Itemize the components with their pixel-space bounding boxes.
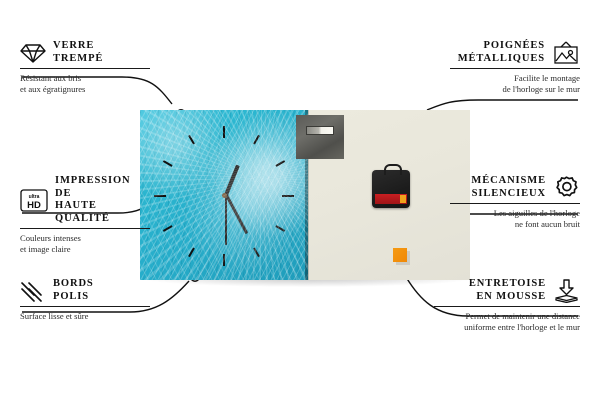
feature-title-line1: MÉCANISME — [471, 175, 546, 188]
feature-title-line1: BORDS — [53, 278, 94, 291]
feature-mecanisme-silencieux: MÉCANISME SILENCIEUX Les aiguilles de l'… — [450, 175, 580, 229]
feature-title-line2: MÉTALLIQUES — [458, 53, 545, 66]
feature-impression-haute-qualite: ultra HD IMPRESSION DE HAUTE QUALITÉ Cou… — [20, 175, 150, 254]
divider — [434, 306, 580, 307]
feature-entretoise-en-mousse: ENTRETOISE EN MOUSSE Permet de maintenir… — [434, 278, 580, 332]
clock-tick — [163, 225, 173, 232]
svg-text:HD: HD — [27, 200, 41, 211]
clock-tick — [163, 160, 173, 167]
feature-desc-line1: Surface lisse et sûre — [20, 311, 150, 322]
feature-title-line2: TREMPÉ — [53, 53, 103, 66]
clock-hour-hand — [223, 165, 239, 198]
foam-spacer — [393, 248, 407, 262]
hanger-slot — [306, 126, 334, 135]
clock-face-panel — [140, 110, 308, 280]
feature-desc-line2: uniforme entre l'horloge et le mur — [434, 322, 580, 333]
clock-tick — [188, 135, 195, 145]
divider — [20, 228, 150, 229]
ultra-hd-badge-icon: ultra HD — [20, 189, 48, 212]
feature-title-line1: IMPRESSION DE — [55, 175, 150, 200]
feature-desc-line1: Permet de maintenir une distance — [434, 311, 580, 322]
hanging-frame-icon — [552, 41, 580, 65]
clock-second-hand — [225, 193, 227, 245]
arrow-down-onto-layers-icon — [553, 279, 580, 303]
clock-tick — [275, 160, 285, 167]
feature-desc-line1: Les aiguilles de l'horloge — [450, 208, 580, 219]
clock-tick — [223, 254, 225, 266]
divider — [450, 68, 580, 69]
clock-tick — [253, 135, 260, 145]
clock-tick — [188, 247, 195, 257]
mechanism-hanging-loop — [384, 164, 402, 175]
feature-desc-line1: Résistant aux bris — [20, 73, 150, 84]
diamond-icon — [20, 42, 46, 64]
feature-desc-line2: de l'horloge sur le mur — [450, 84, 580, 95]
clock-minute-hand — [224, 192, 249, 234]
feature-title-line2: EN MOUSSE — [469, 291, 546, 304]
clock-tick — [282, 195, 294, 197]
clock-tick — [275, 225, 285, 232]
feature-verre-trempe: VERRE TREMPÉ Résistant aux bris et aux é… — [20, 40, 150, 94]
feature-poignees-metalliques: POIGNÉES MÉTALLIQUES Facilite le montage… — [450, 40, 580, 94]
feature-title-line1: POIGNÉES — [458, 40, 545, 53]
feature-title-line2: SILENCIEUX — [471, 188, 546, 201]
metal-hanger-plate — [296, 115, 344, 159]
battery — [375, 194, 407, 204]
divider — [20, 306, 150, 307]
divider — [20, 68, 150, 69]
clock-mechanism-box — [372, 170, 410, 208]
feature-title-line2: POLIS — [53, 291, 94, 304]
feature-title-line1: ENTRETOISE — [469, 278, 546, 291]
diagonal-lines-icon — [20, 280, 46, 302]
clock-center-hub — [222, 193, 227, 198]
feature-desc-line2: et aux égratignures — [20, 84, 150, 95]
feature-desc-line1: Facilite le montage — [450, 73, 580, 84]
feature-title-line1: VERRE — [53, 40, 103, 53]
connector-poignees — [427, 100, 578, 110]
feature-desc-line2: ne font aucun bruit — [450, 219, 580, 230]
infographic-canvas: VERRE TREMPÉ Résistant aux bris et aux é… — [0, 0, 600, 400]
feature-bords-polis: BORDS POLIS Surface lisse et sûre — [20, 278, 150, 322]
feature-desc-line1: Couleurs intenses — [20, 233, 150, 244]
feature-desc-line2: et image claire — [20, 244, 150, 255]
clock-tick — [253, 247, 260, 257]
gear-icon — [553, 175, 580, 200]
feature-title-line2: HAUTE QUALITÉ — [55, 200, 150, 225]
divider — [450, 203, 580, 204]
clock-tick — [223, 126, 225, 138]
clock-tick — [154, 195, 166, 197]
